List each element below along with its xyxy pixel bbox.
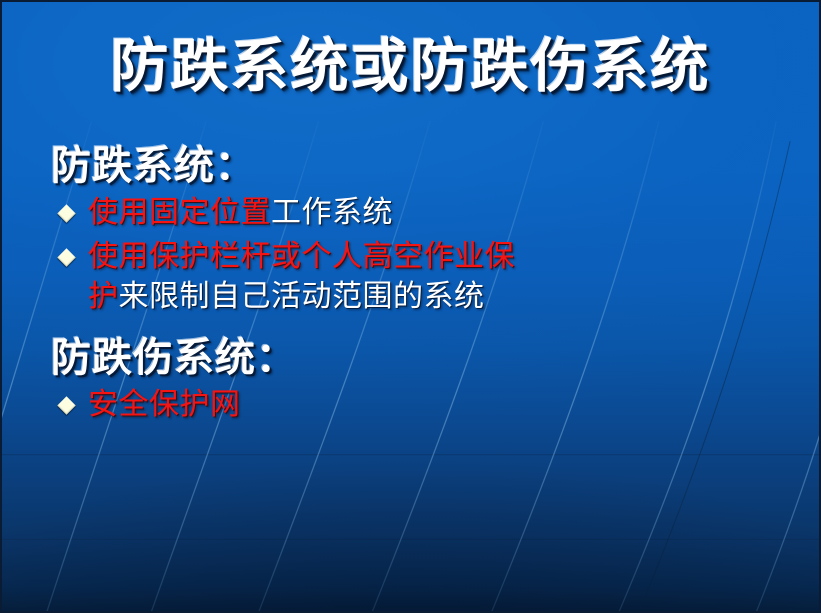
slide-content: 防跌系统或防跌伤系统 防跌系统： 使用固定位置工作系统 使用保护栏杆或个人高空作… [2,2,819,611]
diamond-bullet-icon [57,204,75,222]
section-heading-1: 防跌系统： [51,142,789,191]
bullet-list-2: 安全保护网 [48,385,789,425]
bullet-segment-highlight: 使用固定位置 [88,195,271,230]
diamond-bullet-icon [57,397,75,415]
bullet-segment-plain: 来限制自己活动范围的系统 [119,279,485,314]
list-item: 安全保护网 [48,385,518,425]
slide-body: 防跌系统： 使用固定位置工作系统 使用保护栏杆或个人高空作业保护来限制自己活动范… [48,142,789,429]
bullet-list-1: 使用固定位置工作系统 使用保护栏杆或个人高空作业保护来限制自己活动范围的系统 [48,193,789,317]
list-item: 使用固定位置工作系统 [48,193,518,233]
list-item: 使用保护栏杆或个人高空作业保护来限制自己活动范围的系统 [48,237,518,317]
slide-title: 防跌系统或防跌伤系统 [2,32,819,100]
bullet-segment-plain: 工作系统 [271,195,393,230]
diamond-bullet-icon [57,248,75,266]
presentation-slide: 防跌系统或防跌伤系统 防跌系统： 使用固定位置工作系统 使用保护栏杆或个人高空作… [0,0,821,613]
section-heading-2: 防跌伤系统： [51,334,789,383]
bullet-segment-highlight: 安全保护网 [88,387,241,422]
